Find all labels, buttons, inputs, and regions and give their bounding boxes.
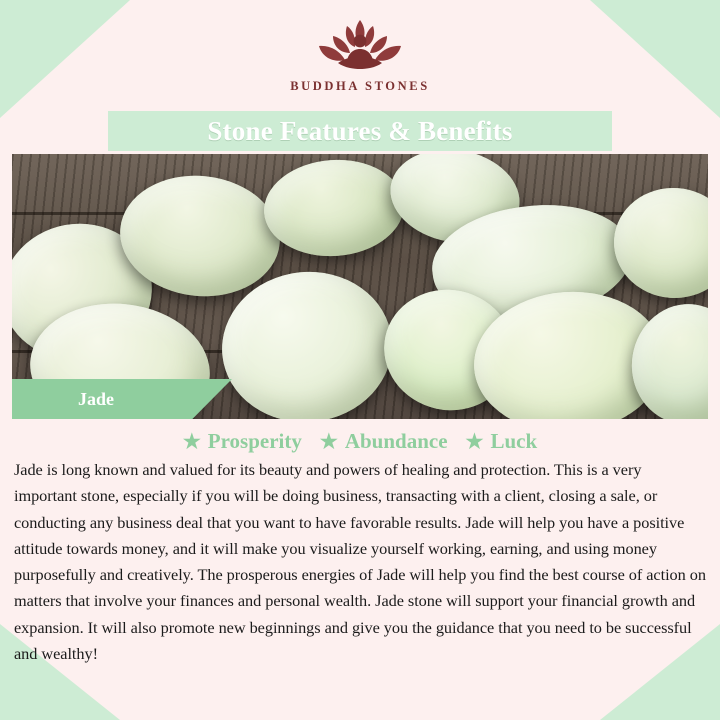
stone-name-label: Jade — [78, 379, 114, 419]
lotus-meditation-figure-icon — [300, 14, 420, 76]
keyword-prosperity: ★ Prosperity — [183, 429, 302, 454]
infographic-page: BUDDHA STONES Stone Features & Benefits … — [0, 0, 720, 720]
description-paragraph: Jade is long known and valued for its be… — [14, 457, 708, 667]
star-icon: ★ — [320, 432, 338, 452]
star-icon: ★ — [183, 432, 201, 452]
keyword-label: Prosperity — [208, 429, 302, 454]
brand-logo: BUDDHA STONES — [0, 14, 720, 94]
star-icon: ★ — [466, 432, 484, 452]
keyword-row: ★ Prosperity ★ Abundance ★ Luck — [0, 429, 720, 454]
keyword-abundance: ★ Abundance — [320, 429, 448, 454]
brand-name: BUDDHA STONES — [0, 79, 720, 94]
keyword-label: Abundance — [345, 429, 448, 454]
keyword-label: Luck — [490, 429, 537, 454]
page-title: Stone Features & Benefits — [0, 110, 720, 152]
keyword-luck: ★ Luck — [466, 429, 538, 454]
